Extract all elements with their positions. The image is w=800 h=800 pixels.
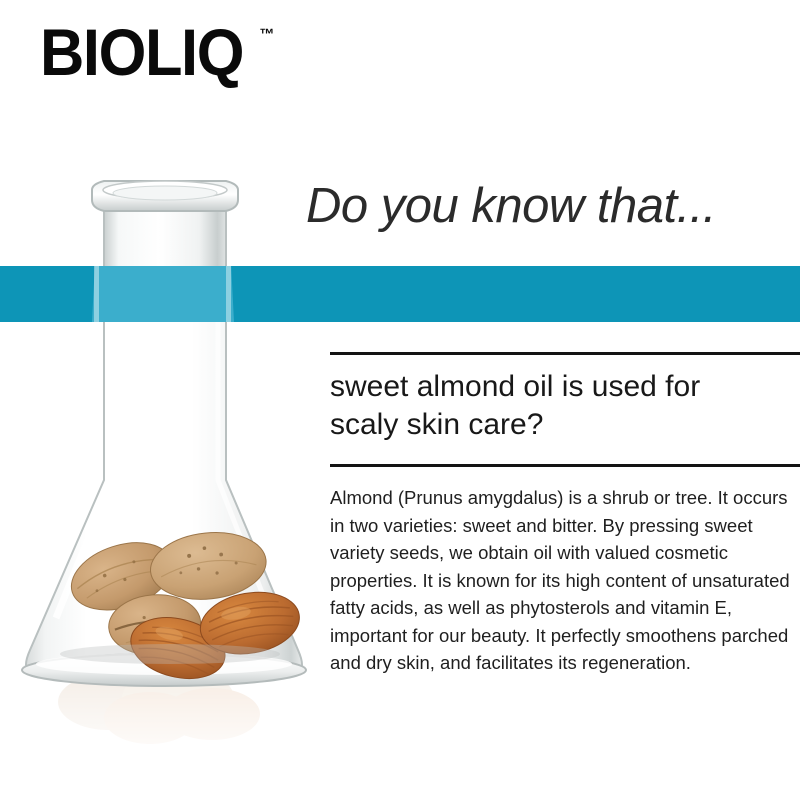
- band-glass-edge-left: [94, 266, 99, 322]
- flask-illustration: [0, 150, 320, 770]
- question-heading: sweet almond oil is used for scaly skin …: [330, 368, 750, 444]
- infographic-canvas: BIOLIQ ™ Do you know that...: [0, 0, 800, 800]
- brand-logo: BIOLIQ ™: [40, 22, 274, 83]
- divider-middle: [330, 464, 800, 467]
- erlenmeyer-flask-graphic: [0, 150, 320, 770]
- flask-mouth-inner: [113, 186, 217, 200]
- band-glass-edge-right: [226, 266, 231, 322]
- body-paragraph: Almond (Prunus amygdalus) is a shrub or …: [330, 484, 790, 677]
- accent-band-glass-overlay: [92, 266, 234, 322]
- headline: Do you know that...: [306, 178, 716, 234]
- almond-contact-shadow: [60, 644, 280, 664]
- divider-top: [330, 352, 800, 355]
- trademark-symbol: ™: [259, 26, 274, 43]
- brand-logo-text: BIOLIQ: [40, 22, 243, 83]
